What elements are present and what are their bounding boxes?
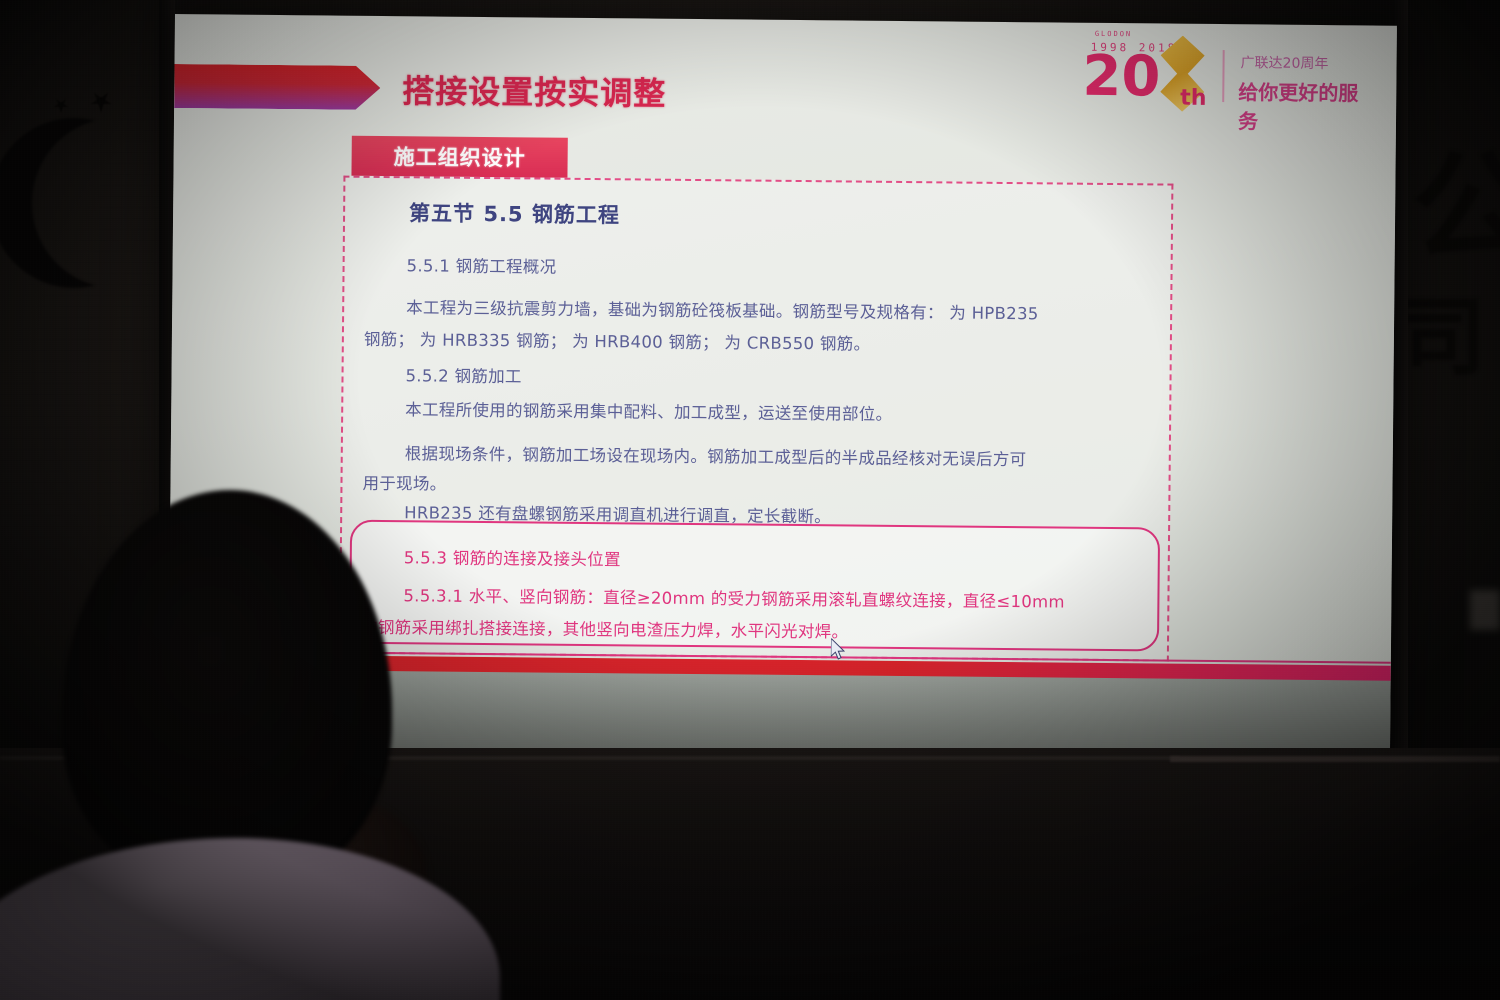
logo-brand-label: GLODON [1095,30,1132,38]
subsection-553-heading: 5.5.3 钢筋的连接及接头位置 [404,544,621,570]
presentation-photo: 公 司 搭接设置按实调整 GLODON 1998 2018 20 th 广联达2… [0,0,1500,1000]
highlight-line-2: 的钢筋采用绑扎搭接连接，其他竖向电渣压力焊，水平闪光对焊。 [361,614,848,643]
paragraph-2: 本工程所使用的钢筋采用集中配料、加工成型，运送至使用部位。 [405,398,892,427]
title-arrow-banner [174,64,380,110]
logo-tagline-line2: 给你更好的服务 [1238,76,1373,135]
paragraph-3-line-2: 用于现场。 [362,472,446,497]
wall-glyph-right-1: 公 [1412,150,1500,270]
wall-emblem-star-large-icon [91,97,111,104]
mouse-cursor-icon [831,638,847,662]
subsection-552-heading: 5.5.2 钢筋加工 [405,364,521,389]
logo-number: 20 [1082,49,1160,106]
subtitle-banner: 施工组织设计 [351,136,567,178]
anniversary-logo: GLODON 1998 2018 20 th 广联达20周年 给你更好的服务 [1072,27,1373,122]
subtitle-banner-label: 施工组织设计 [394,141,526,172]
wall-emblem-star-small-icon [54,102,68,107]
subsection-551-heading: 5.5.1 钢筋工程概况 [406,254,556,279]
logo-tagline-line1: 广联达20周年 [1240,52,1328,73]
slide-title: 搭接设置按实调整 [402,66,1042,118]
section-heading: 第五节 5.5 钢筋工程 [409,198,620,230]
paragraph-1-line-2: 钢筋； 为 HRB335 钢筋； 为 HRB400 钢筋； 为 CRB550 钢… [364,328,871,357]
wall-light-patch [1470,590,1500,630]
wall-glyph-right-2: 司 [1400,295,1486,381]
logo-divider [1222,50,1224,102]
logo-suffix: th [1180,86,1206,111]
desk-edge-right [1170,756,1500,762]
